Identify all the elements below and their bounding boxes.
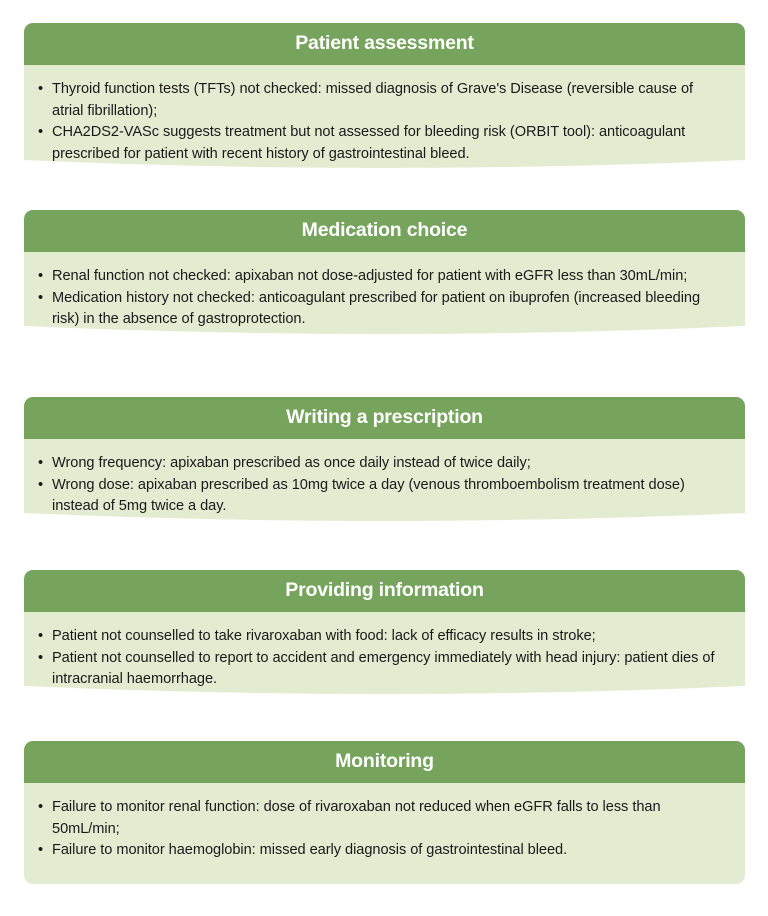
card-header: Monitoring — [24, 741, 745, 783]
list-item-text: Wrong dose: apixaban prescribed as 10mg … — [52, 477, 685, 515]
list-item: •CHA2DS2-VASc suggests treatment but not… — [38, 122, 723, 165]
list-item-text: CHA2DS2-VASc suggests treatment but not … — [52, 124, 685, 162]
bullet-icon: • — [38, 475, 43, 497]
bullet-list: •Failure to monitor renal function: dose… — [38, 797, 723, 862]
list-item: •Medication history not checked: anticoa… — [38, 288, 723, 331]
card-providing-information: Providing information •Patient not couns… — [24, 570, 745, 701]
card-writing-a-prescription: Writing a prescription •Wrong frequency:… — [24, 397, 745, 528]
list-item: •Wrong dose: apixaban prescribed as 10mg… — [38, 475, 723, 518]
card-header: Medication choice — [24, 210, 745, 252]
bullet-list: •Patient not counselled to take rivaroxa… — [38, 626, 723, 691]
bullet-list: •Renal function not checked: apixaban no… — [38, 266, 723, 331]
card-title: Writing a prescription — [286, 408, 483, 428]
infographic-root: Patient assessment •Thyroid function tes… — [0, 0, 768, 916]
bullet-icon: • — [38, 453, 43, 475]
concave-bottom-edge — [24, 686, 745, 702]
list-item-text: Failure to monitor haemoglobin: missed e… — [52, 842, 567, 858]
card-body: •Patient not counselled to take rivaroxa… — [24, 612, 745, 701]
card-body: •Wrong frequency: apixaban prescribed as… — [24, 439, 745, 528]
card-title: Patient assessment — [295, 34, 474, 54]
card-medication-choice: Medication choice •Renal function not ch… — [24, 210, 745, 341]
bullet-icon: • — [38, 266, 43, 288]
bullet-icon: • — [38, 288, 43, 310]
list-item: •Thyroid function tests (TFTs) not check… — [38, 79, 723, 122]
concave-bottom-edge — [24, 160, 745, 176]
card-patient-assessment: Patient assessment •Thyroid function tes… — [24, 23, 745, 175]
card-body: •Renal function not checked: apixaban no… — [24, 252, 745, 341]
list-item-text: Renal function not checked: apixaban not… — [52, 268, 687, 284]
list-item-text: Patient not counselled to take rivaroxab… — [52, 628, 596, 644]
list-item-text: Wrong frequency: apixaban prescribed as … — [52, 455, 531, 471]
card-title: Medication choice — [302, 221, 468, 241]
card-body: •Failure to monitor renal function: dose… — [24, 783, 745, 884]
bullet-list: •Thyroid function tests (TFTs) not check… — [38, 79, 723, 165]
list-item: •Failure to monitor renal function: dose… — [38, 797, 723, 840]
list-item: •Wrong frequency: apixaban prescribed as… — [38, 453, 723, 475]
concave-bottom-edge — [24, 513, 745, 529]
card-monitoring: Monitoring •Failure to monitor renal fun… — [24, 741, 745, 884]
card-header: Providing information — [24, 570, 745, 612]
list-item-text: Failure to monitor renal function: dose … — [52, 799, 661, 837]
bullet-icon: • — [38, 797, 43, 819]
list-item-text: Medication history not checked: anticoag… — [52, 290, 700, 328]
concave-bottom-edge — [24, 326, 745, 342]
bullet-icon: • — [38, 648, 43, 670]
list-item: •Renal function not checked: apixaban no… — [38, 266, 723, 288]
list-item: •Patient not counselled to report to acc… — [38, 648, 723, 691]
bullet-icon: • — [38, 840, 43, 862]
card-title: Providing information — [285, 581, 483, 601]
bullet-icon: • — [38, 122, 43, 144]
bullet-icon: • — [38, 626, 43, 648]
list-item-text: Thyroid function tests (TFTs) not checke… — [52, 81, 693, 119]
bullet-icon: • — [38, 79, 43, 101]
card-title: Monitoring — [335, 752, 434, 772]
list-item-text: Patient not counselled to report to acci… — [52, 650, 714, 688]
list-item: •Failure to monitor haemoglobin: missed … — [38, 840, 723, 862]
card-body: •Thyroid function tests (TFTs) not check… — [24, 65, 745, 175]
card-header: Writing a prescription — [24, 397, 745, 439]
bullet-list: •Wrong frequency: apixaban prescribed as… — [38, 453, 723, 518]
list-item: •Patient not counselled to take rivaroxa… — [38, 626, 723, 648]
card-header: Patient assessment — [24, 23, 745, 65]
